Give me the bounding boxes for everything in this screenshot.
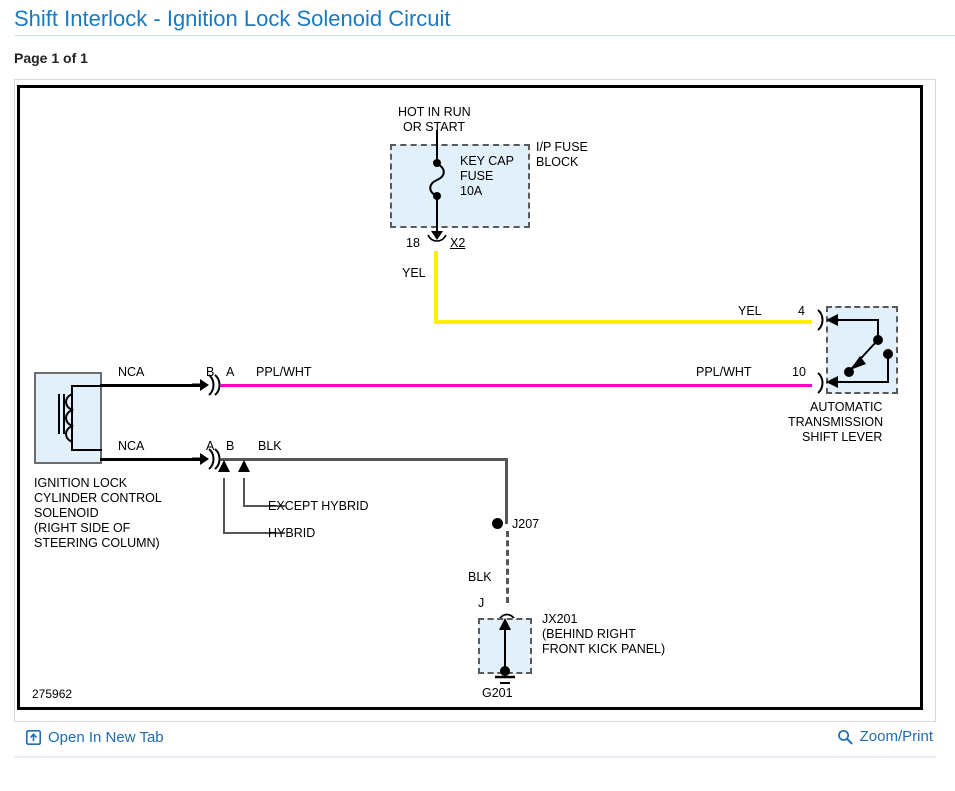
ppl-wht-wire <box>220 384 812 387</box>
open-in-new-tab-icon <box>26 730 41 745</box>
except-hybrid-note-label: EXCEPT HYBRID <box>268 499 369 513</box>
diagram-id-number: 275962 <box>32 687 72 701</box>
blk-wire-vertical-upper <box>505 458 508 524</box>
diagram-viewer-page: Shift Interlock - Ignition Lock Solenoid… <box>0 0 955 791</box>
shift-lever-name-line1: AUTOMATIC <box>810 400 882 414</box>
j207-splice-label: J207 <box>512 517 539 531</box>
shift-lever-box <box>826 306 898 394</box>
x2-cavity-number: 18 <box>406 236 420 250</box>
hot-in-run-label-line2: OR START <box>403 120 465 134</box>
solenoid-name-line5: STEERING COLUMN) <box>34 536 160 550</box>
blk-wire-dashed-lower <box>506 531 509 603</box>
fuse-rating: 10A <box>460 184 482 198</box>
shift-lever-pin-4: 4 <box>798 304 805 318</box>
solenoid-name-line2: CYLINDER CONTROL <box>34 491 162 505</box>
ip-fuse-block-label-line1: I/P FUSE <box>536 140 588 154</box>
magnifier-icon <box>837 729 853 745</box>
open-in-new-tab-button[interactable]: Open In New Tab <box>26 729 164 746</box>
shift-lever-name-line3: SHIFT LEVER <box>802 430 882 444</box>
yel-wire-label-right: YEL <box>738 304 762 318</box>
fuse-name-line1: KEY CAP <box>460 154 514 168</box>
fuse-feed-wire <box>436 130 438 162</box>
g201-ground-dot <box>500 666 510 676</box>
blk-wire-horizontal <box>220 458 508 461</box>
title-divider <box>14 35 955 36</box>
footer-bottom-divider <box>14 756 936 758</box>
wiring-diagram: HOT IN RUN OR START I/P FUSE BLOCK KEY C… <box>17 85 923 710</box>
x2-connector-name: X2 <box>450 236 465 250</box>
j207-splice-dot <box>492 518 503 529</box>
zoom-print-label: Zoom/Print <box>860 728 933 745</box>
fuse-terminal-dot-top <box>433 159 441 167</box>
yel-wire-vertical <box>434 251 438 324</box>
ppl-wht-label-right: PPL/WHT <box>696 365 752 379</box>
page-indicator: Page 1 of 1 <box>14 50 88 66</box>
solenoid-name-line4: (RIGHT SIDE OF <box>34 521 130 535</box>
yel-wire-horizontal <box>434 320 812 324</box>
jx201-name-label: JX201 <box>542 612 577 626</box>
ignition-lock-solenoid-box <box>34 372 102 464</box>
solenoid-name-line1: IGNITION LOCK <box>34 476 127 490</box>
solenoid-pin-a-lower: A <box>206 439 214 453</box>
jx201-pin-label: J <box>478 596 484 610</box>
open-in-new-tab-label: Open In New Tab <box>48 729 164 746</box>
blk-label-upper: BLK <box>258 439 282 453</box>
ppl-wht-label-left: PPL/WHT <box>256 365 312 379</box>
g201-label: G201 <box>482 686 513 700</box>
fuse-name-line2: FUSE <box>460 169 493 183</box>
page-title: Shift Interlock - Ignition Lock Solenoid… <box>14 6 451 32</box>
nca-label-upper: NCA <box>118 365 144 379</box>
blk-label-lower: BLK <box>468 570 492 584</box>
yel-wire-label-left: YEL <box>402 266 426 280</box>
shift-lever-pin-10: 10 <box>792 365 806 379</box>
jx201-location-line1: (BEHIND RIGHT <box>542 627 636 641</box>
shift-lever-name-line2: TRANSMISSION <box>788 415 883 429</box>
nca-label-lower: NCA <box>118 439 144 453</box>
zoom-print-button[interactable]: Zoom/Print <box>837 728 933 745</box>
fuse-output-wire <box>436 199 438 233</box>
solenoid-pin-b-lower: B <box>226 439 234 453</box>
jx201-location-line2: FRONT KICK PANEL) <box>542 642 665 656</box>
solenoid-pin-b-upper: B <box>206 365 214 379</box>
solenoid-name-line3: SOLENOID <box>34 506 99 520</box>
nca-wire-lower <box>100 458 200 461</box>
nca-wire-upper <box>100 384 200 387</box>
solenoid-pin-a-upper: A <box>226 365 234 379</box>
hot-in-run-label-line1: HOT IN RUN <box>398 105 471 119</box>
ip-fuse-block-label-line2: BLOCK <box>536 155 578 169</box>
hybrid-note-label: HYBRID <box>268 526 315 540</box>
